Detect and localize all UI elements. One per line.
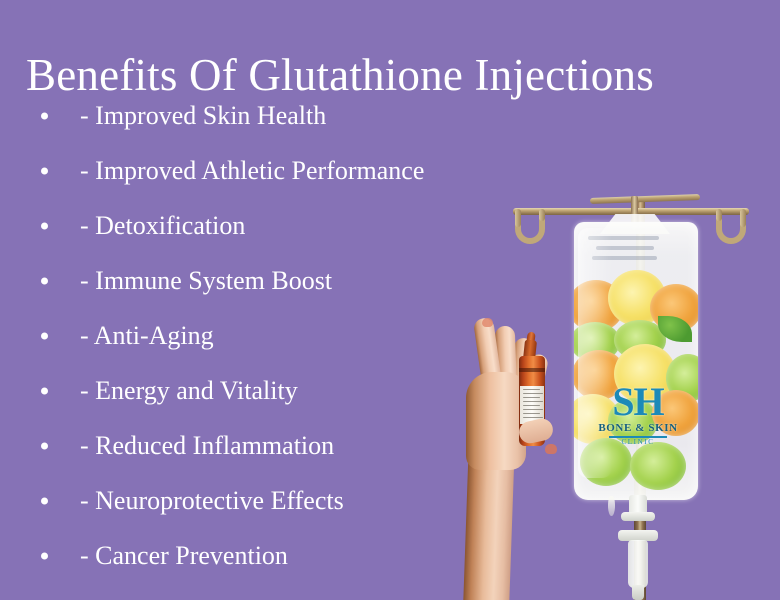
iv-hook-stub <box>740 209 746 227</box>
list-item-label: - Reduced Inflammation <box>80 431 334 461</box>
lime-slice <box>580 438 632 486</box>
clinic-logo-name: BONE & SKIN <box>592 423 684 434</box>
list-item: - Anti-Aging <box>0 308 470 363</box>
lemon-slice <box>614 344 676 404</box>
iv-hanger-eyelet <box>641 200 655 222</box>
iv-bag-outlet <box>629 495 647 517</box>
lemon-slice <box>608 270 666 326</box>
vial-neck <box>523 339 537 360</box>
benefits-list: - Improved Skin Health - Improved Athlet… <box>0 88 470 583</box>
iv-bag-neck <box>600 214 670 234</box>
lime-slice <box>666 354 698 402</box>
iv-bag-printing <box>582 230 690 274</box>
iv-hook-stub <box>716 209 722 221</box>
list-item: - Reduced Inflammation <box>0 418 470 473</box>
finger <box>519 353 549 417</box>
bullet-icon <box>41 112 48 119</box>
clinic-logo-rule <box>609 436 667 438</box>
clinic-logo-subtitle: CLINIC <box>592 439 684 446</box>
finger <box>473 317 503 393</box>
glutathione-vial <box>519 356 545 446</box>
poster-canvas: SH BONE & SKIN CLINIC Benefits Of Gl <box>0 0 780 600</box>
iv-pole-lower <box>634 470 646 600</box>
list-item-label: - Detoxification <box>80 211 245 241</box>
iv-drip-chamber <box>628 540 648 588</box>
list-item: - Improved Athletic Performance <box>0 143 470 198</box>
iv-drip-collar <box>618 530 658 541</box>
vial-tip <box>526 332 536 345</box>
iv-hook-left-icon <box>515 210 545 244</box>
vial-label <box>520 386 544 424</box>
list-item-label: - Cancer Prevention <box>80 541 288 571</box>
bullet-icon <box>41 167 48 174</box>
bullet-icon <box>41 552 48 559</box>
lemon-slice <box>574 394 620 444</box>
list-item: - Energy and Vitality <box>0 363 470 418</box>
bullet-icon <box>41 497 48 504</box>
list-item: - Immune System Boost <box>0 253 470 308</box>
bullet-icon <box>41 387 48 394</box>
forearm <box>463 439 515 600</box>
lime-slice <box>614 320 666 360</box>
iv-bag-drip-drop <box>608 496 615 516</box>
iv-bag <box>574 222 698 500</box>
list-item: - Cancer Prevention <box>0 528 470 583</box>
list-item-label: - Energy and Vitality <box>80 376 298 406</box>
iv-hook-right-icon <box>716 210 746 244</box>
palm <box>466 372 526 470</box>
iv-drip-collar <box>621 512 655 521</box>
list-item-label: - Improved Skin Health <box>80 101 326 131</box>
list-item-label: - Anti-Aging <box>80 321 214 351</box>
finger <box>495 326 518 401</box>
iv-drip-tip <box>632 585 644 600</box>
vial-ring <box>519 368 545 372</box>
bullet-icon <box>41 277 48 284</box>
mint-leaf <box>658 316 692 342</box>
list-item-label: - Immune System Boost <box>80 266 332 296</box>
thumb <box>517 417 555 446</box>
iv-hook-stub <box>539 209 545 221</box>
bullet-icon <box>41 222 48 229</box>
finger <box>509 337 534 406</box>
iv-hook-stub <box>515 209 521 227</box>
list-item: - Improved Skin Health <box>0 88 470 143</box>
list-item-label: - Improved Athletic Performance <box>80 156 424 186</box>
list-item: - Neuroprotective Effects <box>0 473 470 528</box>
fingernail <box>482 318 493 327</box>
list-item: - Detoxification <box>0 198 470 253</box>
lime-slice <box>574 322 620 362</box>
list-item-label: - Neuroprotective Effects <box>80 486 344 516</box>
orange-slice <box>652 390 698 436</box>
thumbnail <box>545 444 557 454</box>
iv-hanger-bar-secondary <box>590 194 700 204</box>
orange-slice <box>574 350 626 400</box>
bullet-icon <box>41 442 48 449</box>
lime-slice <box>608 398 658 444</box>
iv-hanger-stem <box>631 196 638 232</box>
iv-pole <box>636 200 645 600</box>
lime-slice <box>630 442 686 490</box>
clinic-logo: SH BONE & SKIN CLINIC <box>592 382 684 446</box>
clinic-logo-monogram: SH <box>592 382 684 422</box>
bullet-icon <box>41 332 48 339</box>
orange-slice <box>650 284 698 332</box>
orange-slice <box>574 280 624 332</box>
iv-hanger-bar <box>513 208 749 215</box>
